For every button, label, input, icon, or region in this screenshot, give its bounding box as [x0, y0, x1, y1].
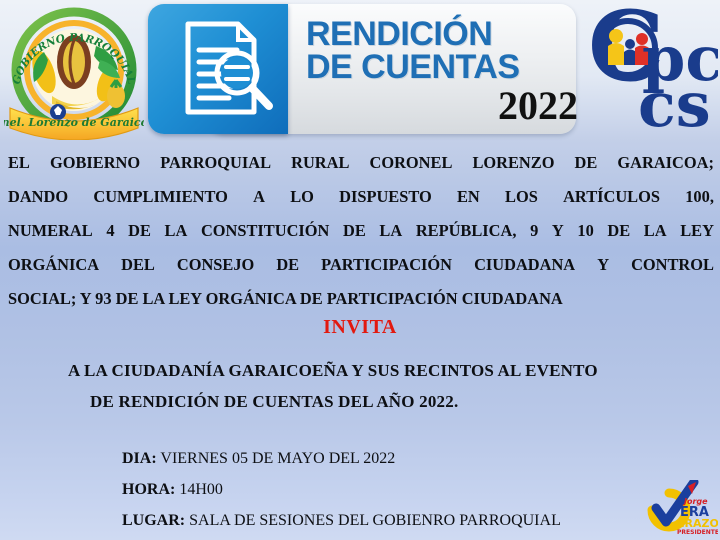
legal-line-0: ELGOBIERNOPARROQUIALRURALCORONELLORENZOD…	[8, 146, 714, 180]
legal-line-1: DANDOCUMPLIMIENTOALODISPUESTOENLOSARTÍCU…	[8, 180, 714, 214]
invita-heading: INVITA	[0, 316, 720, 339]
seal-ribbon-text: Cnel. Lorenzo de Garaicoa	[4, 116, 144, 129]
banner-title-line1: RENDICIÓN	[306, 18, 578, 51]
detail-row-dia: DIA: VIERNES 05 DE MAYO DEL 2022	[122, 450, 395, 468]
banner-title-line2: DE CUENTAS	[306, 51, 578, 84]
banner-icon-box	[148, 4, 288, 134]
cpccs-logo: C pc cs	[586, 2, 718, 134]
detail-value-lugar: SALA DE SESIONES DEL GOBIENRO PARROQUIAL	[189, 512, 561, 529]
invite-line-2: DE RENDICIÓN DE CUENTAS DEL AÑO 2022.	[90, 392, 458, 412]
detail-label-dia: DIA:	[122, 450, 157, 467]
banner-year: 2022	[328, 86, 596, 126]
poster-canvas: GOBIERNO PARROQUIAL Cnel. Lorenzo de Gar…	[0, 0, 720, 540]
rendicion-banner: RENDICIÓN DE CUENTAS 2022	[148, 4, 576, 134]
detail-row-hora: HORA: 14H00	[122, 481, 223, 499]
document-magnifier-icon	[174, 18, 278, 118]
cpccs-logo-icon: C pc cs	[586, 2, 718, 134]
jorge-era-logo: Jorge ERA ERAZO PRESIDENTE	[644, 480, 718, 536]
parish-seal-logo: GOBIERNO PARROQUIAL Cnel. Lorenzo de Gar…	[4, 0, 144, 140]
detail-row-lugar: LUGAR: SALA DE SESIONES DEL GOBIENRO PAR…	[122, 512, 561, 530]
era-logo-subtitle: PRESIDENTE	[677, 529, 718, 536]
cpccs-letters-2: cs	[638, 68, 711, 134]
legal-line-2: NUMERAL4DELACONSTITUCIÓNDELAREPÚBLICA,9Y…	[8, 214, 714, 248]
detail-label-hora: HORA:	[122, 481, 175, 498]
detail-value-hora: 14H00	[179, 481, 223, 498]
legal-line-3: ORGÁNICADELCONSEJODEPARTICIPACIÓNCIUDADA…	[8, 248, 714, 282]
parish-seal-icon: GOBIERNO PARROQUIAL Cnel. Lorenzo de Gar…	[4, 0, 144, 140]
poster-header: GOBIERNO PARROQUIAL Cnel. Lorenzo de Gar…	[0, 0, 720, 145]
detail-value-dia: VIERNES 05 DE MAYO DEL 2022	[160, 450, 395, 467]
invite-line-1: A LA CIUDADANÍA GARAICOEÑA Y SUS RECINTO…	[68, 361, 598, 381]
legal-paragraph: ELGOBIERNOPARROQUIALRURALCORONELLORENZOD…	[8, 146, 714, 316]
banner-title: RENDICIÓN DE CUENTAS	[306, 18, 578, 84]
legal-line-4: SOCIAL; Y 93 DE LA LEY ORGÁNICA DE PARTI…	[8, 282, 714, 316]
detail-label-lugar: LUGAR:	[122, 512, 185, 529]
jorge-era-checkmark-logo-icon: Jorge ERA ERAZO PRESIDENTE	[644, 480, 718, 536]
